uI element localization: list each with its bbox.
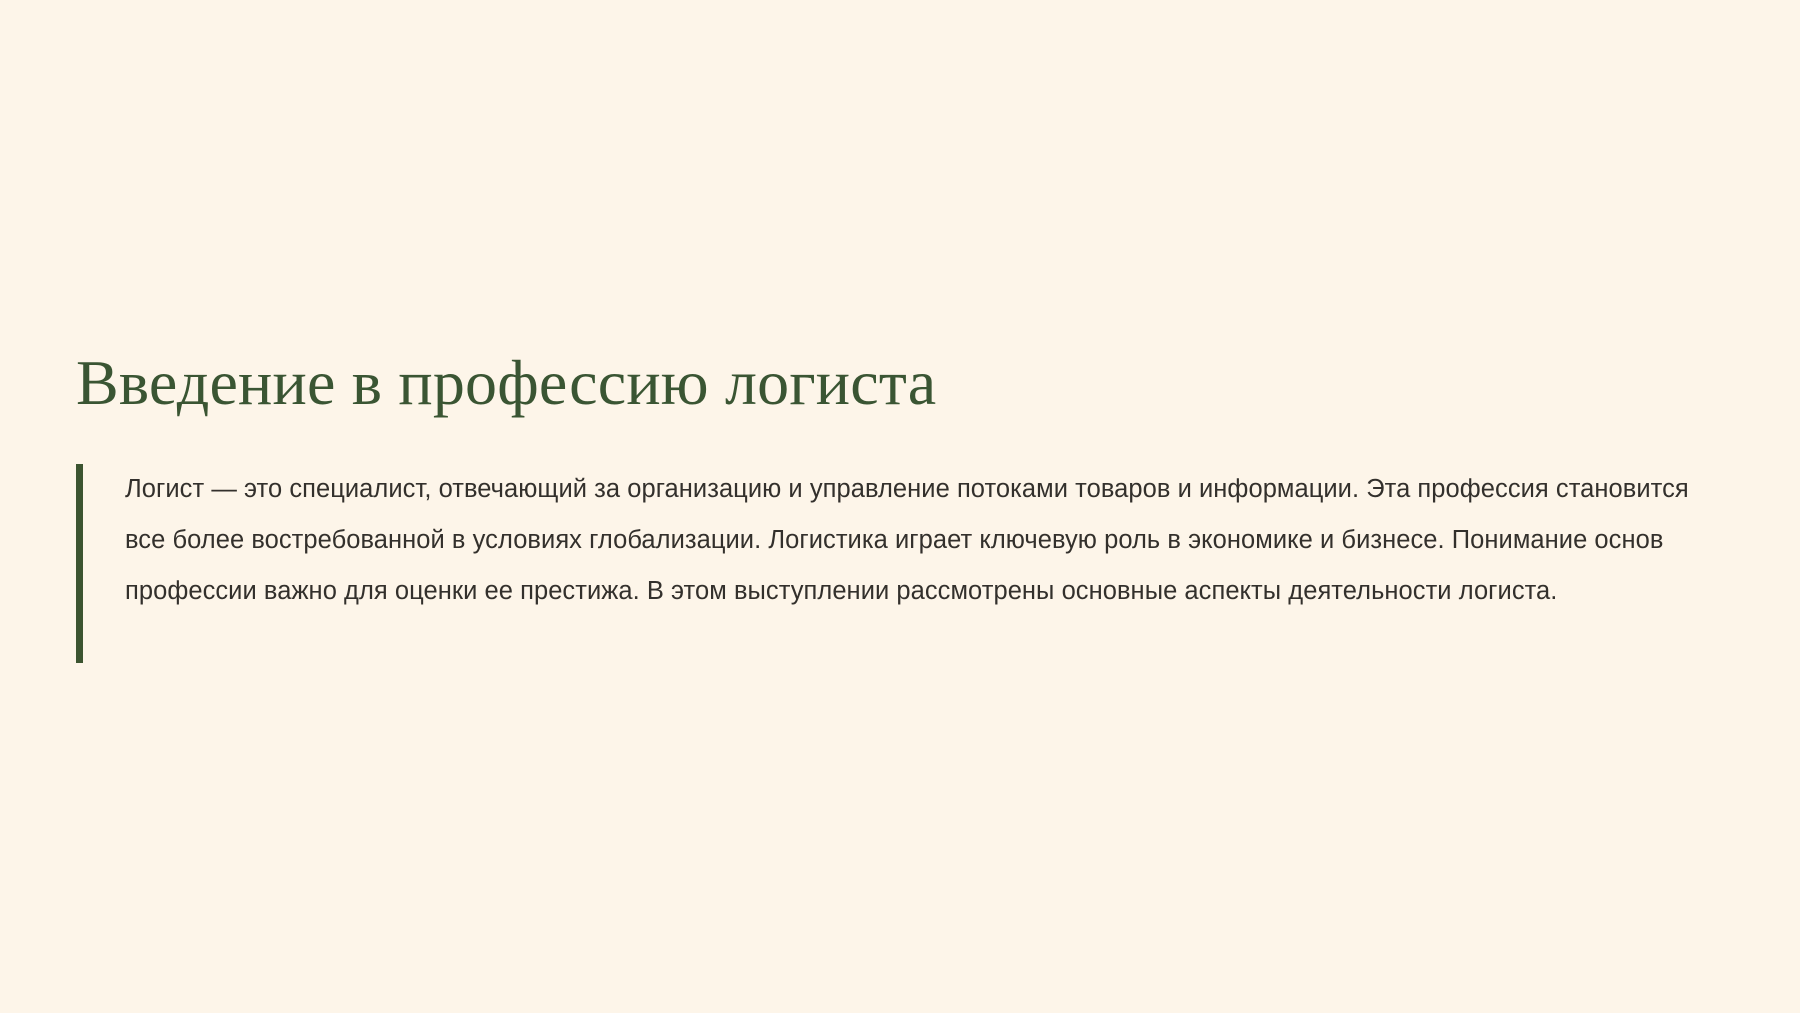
accent-bar (76, 464, 83, 663)
page-title: Введение в профессию логиста (76, 347, 936, 419)
body-callout: Логист — это специалист, отвечающий за о… (76, 464, 1736, 663)
presentation-slide: Введение в профессию логиста Логист — эт… (0, 0, 1800, 1013)
body-paragraph: Логист — это специалист, отвечающий за о… (83, 464, 1736, 663)
